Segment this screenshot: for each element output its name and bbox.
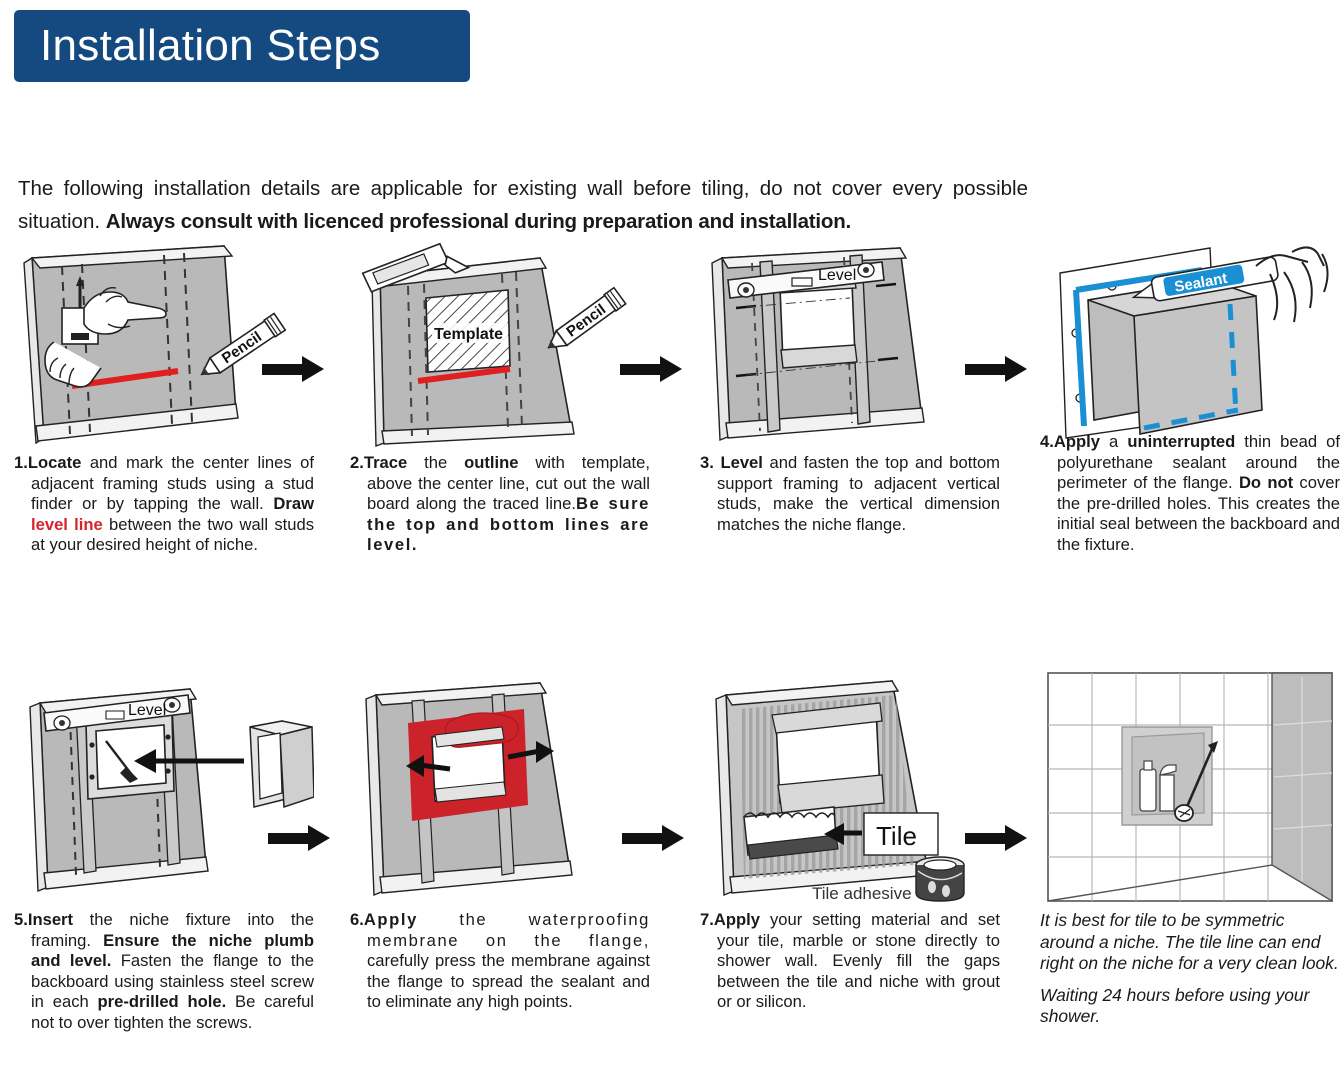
- flow-arrow-6: [965, 825, 1027, 851]
- arrow-head: [660, 356, 682, 382]
- step-5-illustration: Level: [14, 665, 314, 910]
- arrow-shaft: [268, 833, 310, 844]
- step-4-caption: 4.Apply a uninterrupted thin bead of pol…: [1040, 432, 1340, 556]
- step-7-t2: your setting material and set your tile,…: [717, 910, 1000, 1011]
- step-6-kw1: Apply: [364, 910, 418, 929]
- step-7-caption: 7.Apply your setting material and set yo…: [700, 910, 1000, 1013]
- step-6-panel: 6.Apply the waterproofing membrane on th…: [350, 665, 650, 1013]
- step-3-kw1: Level: [720, 453, 762, 472]
- step-7-panel: Tile Tile adhesive 7.Apply your setting …: [700, 665, 1000, 1013]
- step-2-panel: Template: [350, 238, 650, 556]
- arrow-shaft: [965, 833, 1007, 844]
- step-5-kw3: pre-drilled hole.: [98, 992, 227, 1011]
- flow-arrow-4: [268, 825, 330, 851]
- step-7-number: 7.: [700, 910, 714, 929]
- final-note-paragraph-2: Waiting 24 hours before using your showe…: [1040, 985, 1340, 1028]
- step-1-kw2: Draw: [273, 494, 314, 513]
- arrow-shaft: [620, 364, 662, 375]
- step-3-number: 3.: [700, 453, 720, 472]
- page-title-banner: Installation Steps: [14, 10, 470, 82]
- arrow-head: [308, 825, 330, 851]
- arrow-shaft: [965, 364, 1007, 375]
- step-3-caption: 3. Level and fasten the top and bottom s…: [700, 453, 1000, 535]
- step-1-panel: Pencil 1.Locate and mark the center line…: [14, 238, 314, 556]
- intro-paragraph: The following installation details are a…: [18, 172, 1028, 238]
- arrow-head: [1005, 825, 1027, 851]
- arrow-shaft: [262, 364, 304, 375]
- step-2-kw1: Trace: [364, 453, 407, 472]
- tile-adhesive-label: Tile adhesive: [812, 884, 912, 903]
- step-3-illustration: Level: [700, 238, 1000, 453]
- step-1-red-highlight: level line: [31, 515, 103, 534]
- step-1-kw1: Locate: [28, 453, 81, 472]
- step-6-t3: carefully press the membrane against the…: [367, 951, 650, 1011]
- tile-label: Tile: [876, 821, 917, 851]
- page-title: Installation Steps: [14, 21, 381, 71]
- pencil-label: Pencil: [563, 301, 609, 341]
- flow-arrow-5: [622, 825, 684, 851]
- step-4-illustration: Sealant: [1040, 238, 1340, 438]
- flow-arrow-1: [262, 356, 324, 382]
- finished-shower-illustration: [1040, 665, 1340, 910]
- step-1-illustration: Pencil: [14, 238, 314, 453]
- step-7-kw1: Apply: [714, 910, 760, 929]
- steps-row-top: Pencil 1.Locate and mark the center line…: [0, 238, 1343, 598]
- step-2-t2: the: [407, 453, 464, 472]
- step-5-number: 5.: [14, 910, 28, 929]
- step-3-panel: Level 3. Level and fasten the top and bo…: [700, 238, 1000, 535]
- final-note-paragraph-1: It is best for tile to be symmetric arou…: [1040, 910, 1340, 975]
- arrow-head: [662, 825, 684, 851]
- step-7-illustration: Tile Tile adhesive: [700, 665, 1000, 910]
- arrow-head: [302, 356, 324, 382]
- step-2-kw2: outline: [464, 453, 518, 472]
- arrow-head: [1005, 356, 1027, 382]
- steps-row-bottom: Level 5.Insert the niche fixture into th…: [0, 665, 1343, 1080]
- flow-arrow-2: [620, 356, 682, 382]
- final-note: It is best for tile to be symmetric arou…: [1040, 910, 1340, 1028]
- installation-steps-page: Installation Steps The following install…: [0, 0, 1343, 1080]
- step-6-number: 6.: [350, 910, 364, 929]
- step-5-kw1: Insert: [28, 910, 73, 929]
- level-label: Level: [128, 702, 166, 719]
- step-2-illustration: Template: [350, 238, 650, 453]
- intro-text-bold: Always consult with licenced professiona…: [106, 210, 851, 233]
- step-5-caption: 5.Insert the niche fixture into the fram…: [14, 910, 314, 1034]
- step-1-caption: 1.Locate and mark the center lines of ad…: [14, 453, 314, 556]
- arrow-shaft: [622, 833, 664, 844]
- step-6-illustration: [350, 665, 650, 910]
- flow-arrow-3: [965, 356, 1027, 382]
- step-6-caption: 6.Apply the waterproofing membrane on th…: [350, 910, 650, 1013]
- level-label: Level: [818, 267, 856, 284]
- step-1-number: 1.: [14, 453, 28, 472]
- step-4-panel: Sealant 4.Apply a uninterrupted thin bea…: [1040, 238, 1340, 556]
- template-label: Template: [434, 326, 503, 343]
- step-4-kw3: Do not: [1239, 473, 1293, 492]
- step-2-caption: 2.Trace the outline with template, above…: [350, 453, 650, 556]
- step-2-number: 2.: [350, 453, 364, 472]
- final-result-panel: It is best for tile to be symmetric arou…: [1040, 665, 1340, 1038]
